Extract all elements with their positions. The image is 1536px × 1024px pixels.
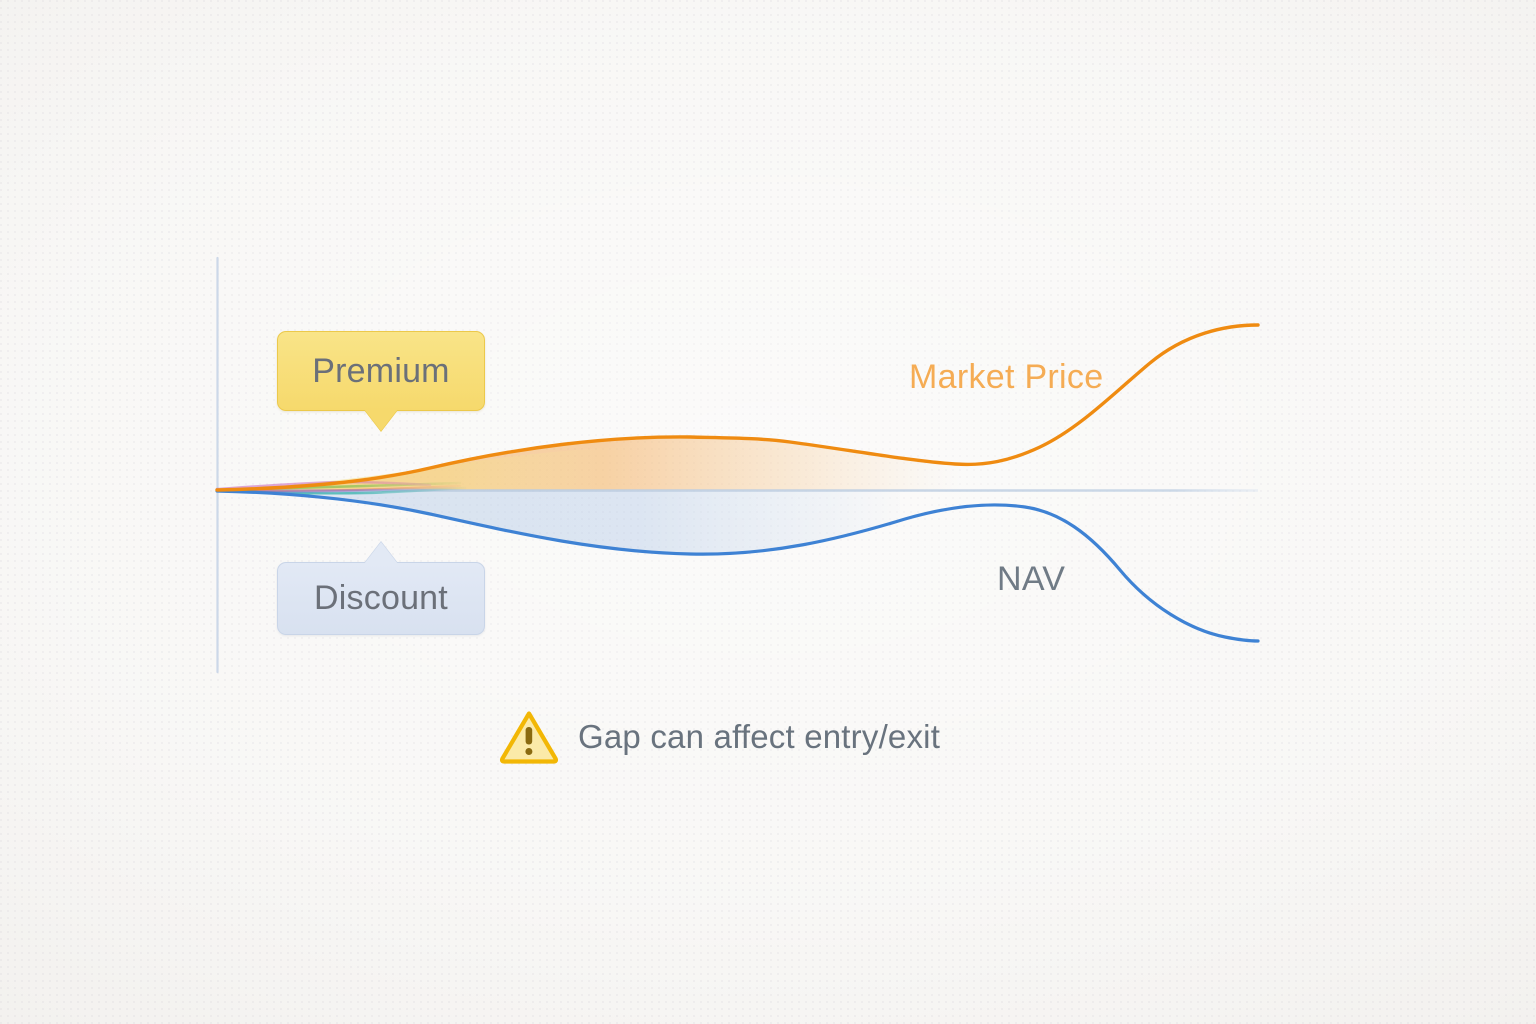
callout-premium-tail <box>364 409 398 431</box>
callout-discount-label: Discount <box>314 579 448 618</box>
callout-discount[interactable]: Discount <box>277 562 485 635</box>
premium-discount-chart <box>0 0 1536 1024</box>
footnote: Gap can affect entry/exit <box>498 708 940 766</box>
series-label-market-price: Market Price <box>909 358 1103 397</box>
chart-stage: Premium Discount Market Price NAV Gap ca… <box>0 0 1536 1024</box>
callout-discount-tail <box>364 542 398 564</box>
callout-premium-label: Premium <box>312 352 449 391</box>
series-label-nav: NAV <box>997 560 1065 599</box>
warning-triangle-icon <box>498 708 560 766</box>
footnote-text: Gap can affect entry/exit <box>578 718 940 756</box>
callout-premium[interactable]: Premium <box>277 331 485 411</box>
